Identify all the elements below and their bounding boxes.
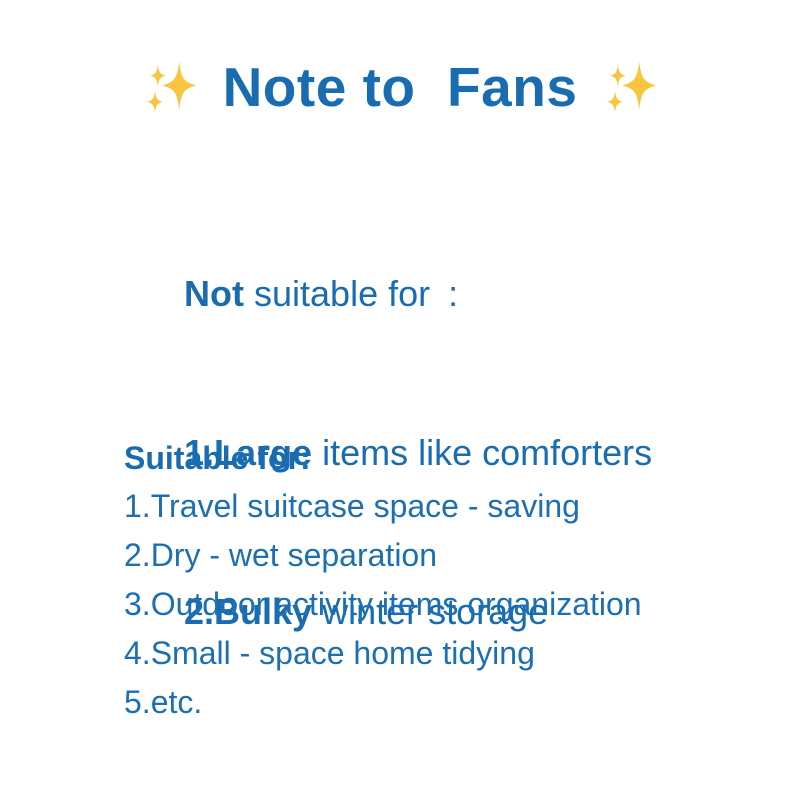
not-suitable-line: Not suitable for : — [124, 214, 764, 373]
sparkles-icon-right — [599, 56, 661, 118]
suitable-heading: Suitable for: — [124, 434, 784, 482]
sparkles-icon-left — [139, 56, 201, 118]
note-to-fans-poster: Note to Fans Not suitable for : 1.Large … — [0, 0, 800, 800]
suitable-block: Suitable for: 1.Travel suitcase space - … — [124, 434, 784, 727]
suitable-list-item: 2.Dry - wet separation — [124, 531, 784, 580]
suitable-list-item: 1.Travel suitcase space - saving — [124, 482, 784, 531]
suitable-list-item: 3.Outdoor activity items organization — [124, 580, 784, 629]
suitable-list-item: 5.etc. — [124, 678, 784, 727]
not-suitable-line-emphasis: Not — [184, 273, 244, 314]
not-suitable-line-rest: suitable for : — [244, 273, 458, 314]
title-row: Note to Fans — [0, 56, 800, 118]
page-title: Note to Fans — [223, 57, 578, 118]
suitable-list-item: 4.Small - space home tidying — [124, 629, 784, 678]
